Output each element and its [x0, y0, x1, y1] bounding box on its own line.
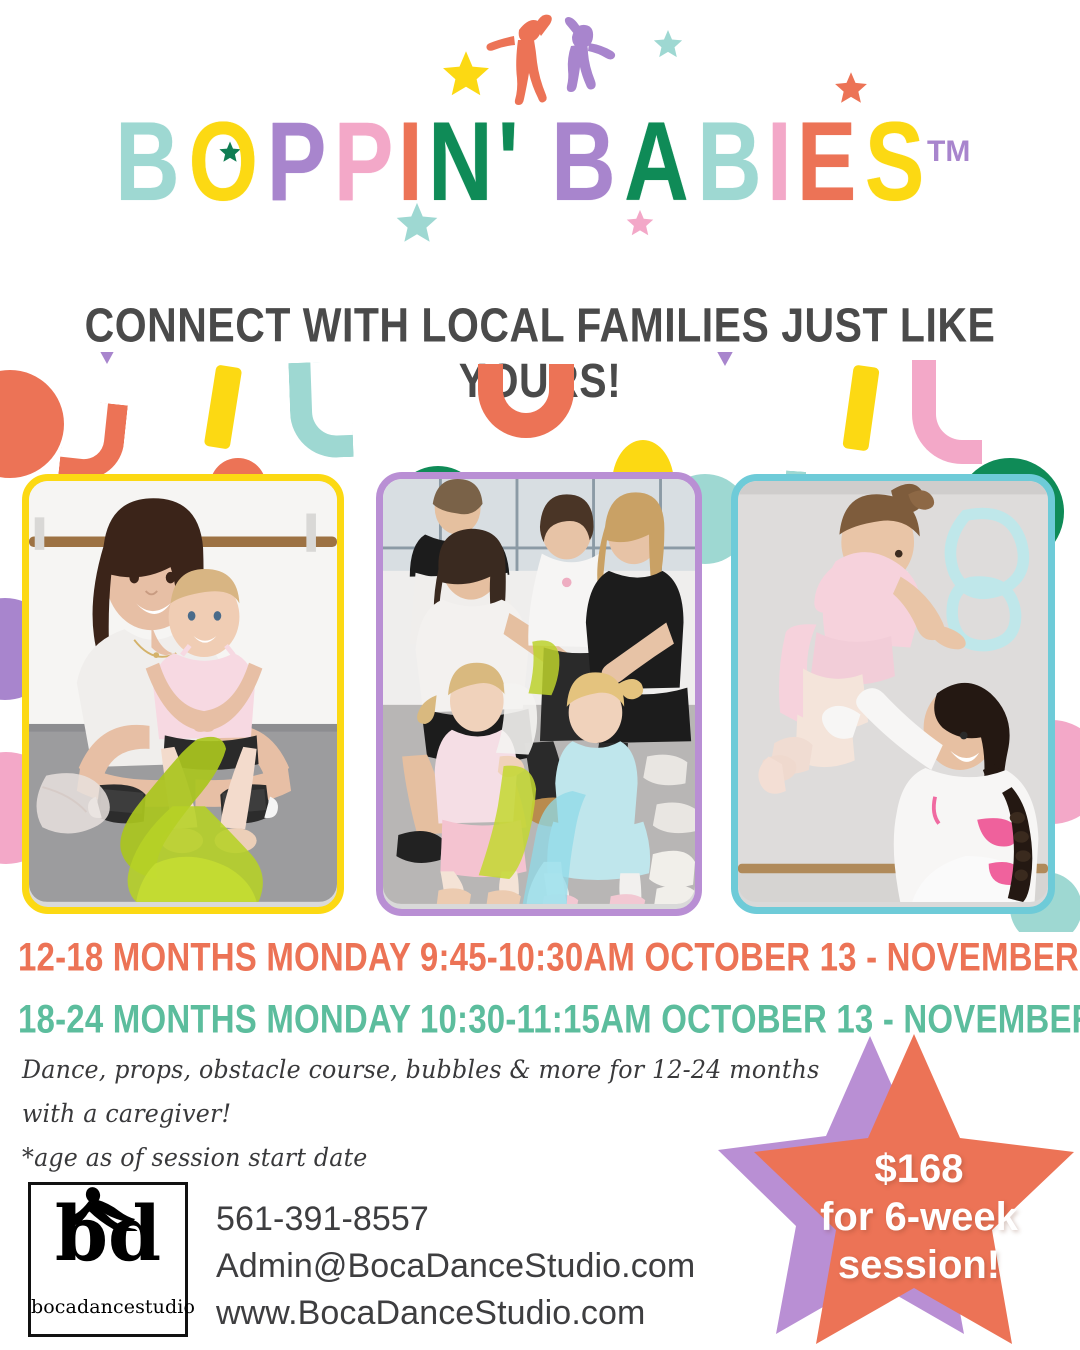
confetti-hook — [750, 468, 806, 535]
studio-name: bocadancestudio — [31, 1296, 185, 1318]
brand-logo-block: BOPPIN' BABIESTM — [0, 0, 1080, 285]
confetti-circle — [0, 370, 64, 478]
wordmark-letter-2: P — [266, 105, 324, 217]
boca-dance-studio-logo: bd bocadancestudio — [28, 1182, 188, 1337]
confetti-triangle — [96, 352, 118, 364]
trademark-symbol: TM — [927, 135, 970, 168]
contact-details: 561-391-8557 Admin@BocaDanceStudio.com w… — [216, 1182, 695, 1337]
price-star-shape — [718, 1032, 1080, 1350]
flyer-canvas: BOPPIN' BABIESTM CONNECT WITH LOCAL FAMI… — [0, 0, 1080, 1350]
confetti-circle — [0, 598, 56, 700]
confetti-hook — [288, 361, 353, 459]
confetti-circle — [956, 458, 1064, 566]
wordmark-letter-12: E — [797, 105, 855, 217]
wordmark-letter-4: I — [398, 105, 421, 217]
email-address[interactable]: Admin@BocaDanceStudio.com — [216, 1243, 695, 1290]
phone-number[interactable]: 561-391-8557 — [216, 1196, 695, 1243]
confetti-circle — [0, 752, 62, 864]
confetti-circle — [1000, 720, 1080, 824]
confetti-hook — [912, 360, 982, 464]
wordmark-letter-10: B — [697, 105, 760, 217]
schedule-row-1: 12-18 MONTHS MONDAY 9:45-10:30AM OCTOBER… — [18, 934, 1062, 980]
confetti-circle — [392, 466, 484, 558]
confetti-circle — [210, 458, 266, 514]
confetti-circle — [660, 474, 750, 564]
wordmark-letter-8: B — [551, 105, 614, 217]
wordmark-letter-5: N — [428, 105, 491, 217]
wordmark-letter-7 — [521, 105, 544, 217]
bd-monogram: bd — [31, 1191, 185, 1277]
website-url[interactable]: www.BocaDanceStudio.com — [216, 1290, 695, 1337]
wordmark-letter-9: A — [624, 105, 687, 217]
wordmark-letter-1: O — [188, 105, 256, 217]
brand-wordmark: BOPPIN' BABIESTM — [0, 100, 1080, 214]
star-icon-yellow — [440, 48, 492, 100]
price-badge: $168 for 6-week session! — [718, 1032, 1080, 1350]
star-icon-teal-top — [652, 28, 684, 60]
wordmark-letter-3: P — [334, 105, 392, 217]
confetti-circle — [1010, 872, 1080, 932]
confetti-arc — [478, 364, 574, 438]
confetti-bar — [842, 365, 879, 452]
confetti-bar — [204, 364, 243, 449]
wordmark-letter-0: B — [115, 105, 178, 217]
confetti-outline-circle — [800, 558, 896, 654]
wordmark-letter-13: S — [864, 105, 922, 217]
studio-contact-footer: bd bocadancestudio 561-391-8557 Admin@Bo… — [28, 1182, 695, 1337]
confetti-triangle — [714, 352, 736, 366]
wordmark-letter-11: I — [767, 105, 790, 217]
wordmark-letter-6: ' — [498, 105, 518, 217]
confetti-background — [0, 352, 1080, 932]
confetti-hook — [58, 399, 128, 483]
